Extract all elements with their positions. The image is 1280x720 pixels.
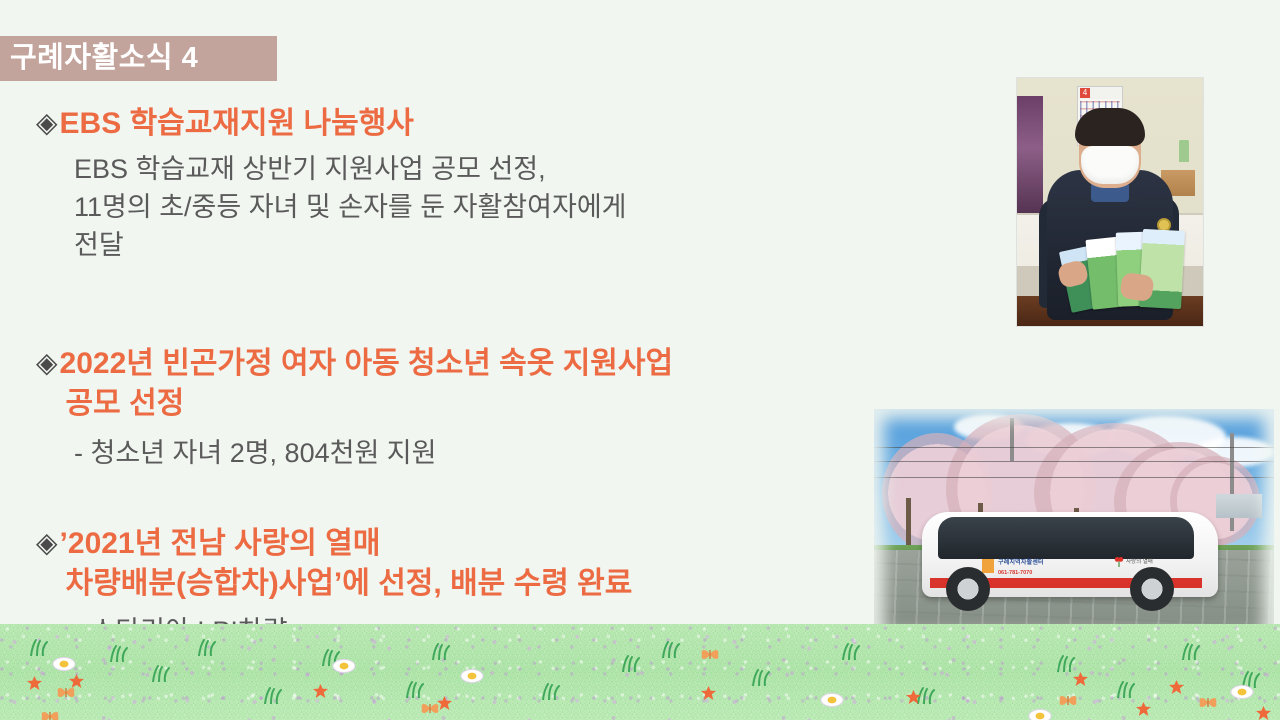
diamond-bullet-icon: ◈ — [36, 104, 58, 142]
power-line — [874, 477, 1274, 478]
section-ebs: ◈ EBS 학습교재지원 나눔행사 EBS 학습교재 상반기 지원사업 공모 선… — [36, 104, 627, 265]
grass-tuft-icon — [660, 640, 682, 658]
daisy-icon — [460, 668, 484, 684]
flower-icon — [1168, 680, 1185, 695]
van-windows — [938, 517, 1194, 559]
butterfly-icon — [420, 702, 440, 715]
person-hand-right — [1119, 272, 1154, 302]
photo-scene: 4 — [1017, 78, 1203, 326]
grass-tuft-icon — [1180, 642, 1202, 660]
title-banner: 구례자활소식 4 — [0, 36, 277, 81]
van-donor-name: 사랑의 열매 — [1126, 557, 1153, 565]
butterfly-icon — [56, 686, 76, 699]
grass-tuft-icon — [840, 642, 862, 660]
section-heading: ◈ 2022년 빈곤가정 여자 아동 청소년 속옷 지원사업 공모 선정 — [36, 344, 673, 423]
grass-tuft-icon — [404, 680, 426, 698]
grass-tuft-icon — [1115, 680, 1137, 698]
van-wheel — [1130, 567, 1174, 611]
van-org-name: 구례지역자활센터 — [998, 557, 1044, 566]
flower-icon — [312, 684, 329, 699]
daisy-icon — [1028, 708, 1052, 720]
body-line: EBS 학습교재 상반기 지원사업 공모 선정, — [74, 150, 627, 188]
power-line — [874, 461, 1274, 462]
flower-icon — [1255, 706, 1272, 720]
daisy-icon — [820, 692, 844, 708]
flower-icon — [1135, 702, 1152, 717]
van-wheel — [946, 567, 990, 611]
diamond-bullet-icon: ◈ — [36, 344, 58, 382]
office-purple-panel — [1017, 96, 1043, 226]
power-line — [874, 447, 1274, 448]
heading-text: 2022년 빈곤가정 여자 아동 청소년 속옷 지원사업 공모 선정 — [60, 344, 674, 423]
heading-text: EBS 학습교재지원 나눔행사 — [60, 104, 414, 144]
person-hair — [1075, 108, 1145, 146]
heading-line: EBS 학습교재지원 나눔행사 — [60, 104, 414, 144]
butterfly-icon — [1058, 694, 1078, 707]
flower-icon — [1072, 672, 1089, 687]
photo-scene: 구례지역자활센터 061-781-7070 사랑의 열매 — [874, 409, 1274, 644]
background-building — [1216, 494, 1262, 518]
diamond-bullet-icon: ◈ — [36, 524, 58, 562]
grass-tuft-icon — [196, 638, 218, 656]
heading-text: ’2021년 전남 사랑의 열매 차량배분(승합차)사업’에 선정, 배분 수령… — [60, 524, 633, 603]
heading-line: ’2021년 전남 사랑의 열매 — [60, 524, 633, 564]
grass-tuft-icon — [540, 682, 562, 700]
page-title: 구례자활소식 4 — [10, 44, 198, 73]
daisy-icon — [52, 656, 76, 672]
grass-decoration-band — [0, 624, 1280, 720]
grass-tuft-icon — [108, 644, 130, 662]
utility-pole — [1010, 418, 1014, 460]
grass-tuft-icon — [750, 668, 772, 686]
face-mask — [1081, 146, 1139, 184]
grass-tuft-icon — [150, 664, 172, 682]
butterfly-icon — [700, 648, 720, 661]
section-body: EBS 학습교재 상반기 지원사업 공모 선정, 11명의 초/중등 자녀 및 … — [36, 150, 627, 265]
section-heading: ◈ ’2021년 전남 사랑의 열매 차량배분(승합차)사업’에 선정, 배분 … — [36, 524, 632, 603]
heading-line: 공모 선정 — [60, 384, 674, 424]
photo-ebs-books: 4 — [1017, 78, 1203, 326]
section-subitem: - 청소년 자녀 2명, 804천원 지원 — [36, 435, 673, 473]
grass-tuft-icon — [262, 686, 284, 704]
grass-tuft-icon — [620, 654, 642, 672]
grass-tuft-icon — [28, 638, 50, 656]
heading-line: 차량배분(승합차)사업’에 선정, 배분 수령 완료 — [60, 564, 633, 604]
heading-line: 2022년 빈곤가정 여자 아동 청소년 속옷 지원사업 — [60, 344, 674, 384]
grass-tuft-icon — [1055, 654, 1077, 672]
section-underwear-support: ◈ 2022년 빈곤가정 여자 아동 청소년 속옷 지원사업 공모 선정 - 청… — [36, 344, 673, 473]
daisy-icon — [1230, 684, 1254, 700]
body-line: 전달 — [74, 226, 627, 264]
daisy-icon — [332, 658, 356, 674]
body-line: 11명의 초/중등 자녀 및 손자를 둔 자활참여자에게 — [74, 188, 627, 226]
flower-icon — [700, 686, 717, 701]
fruit-of-love-icon — [1114, 555, 1124, 567]
flower-icon — [905, 690, 922, 705]
section-heading: ◈ EBS 학습교재지원 나눔행사 — [36, 104, 627, 144]
office-green-object — [1179, 140, 1189, 162]
grass-tuft-icon — [430, 642, 452, 660]
butterfly-icon — [1198, 696, 1218, 709]
calendar-month: 4 — [1080, 88, 1090, 98]
slide-root: 구례자활소식 4 ◈ EBS 학습교재지원 나눔행사 EBS 학습교재 상반기 … — [0, 0, 1280, 720]
van-phone-number: 061-781-7070 — [998, 570, 1032, 576]
butterfly-icon — [40, 710, 60, 720]
flower-icon — [26, 676, 43, 691]
photo-donated-van: 구례지역자활센터 061-781-7070 사랑의 열매 — [874, 409, 1274, 644]
